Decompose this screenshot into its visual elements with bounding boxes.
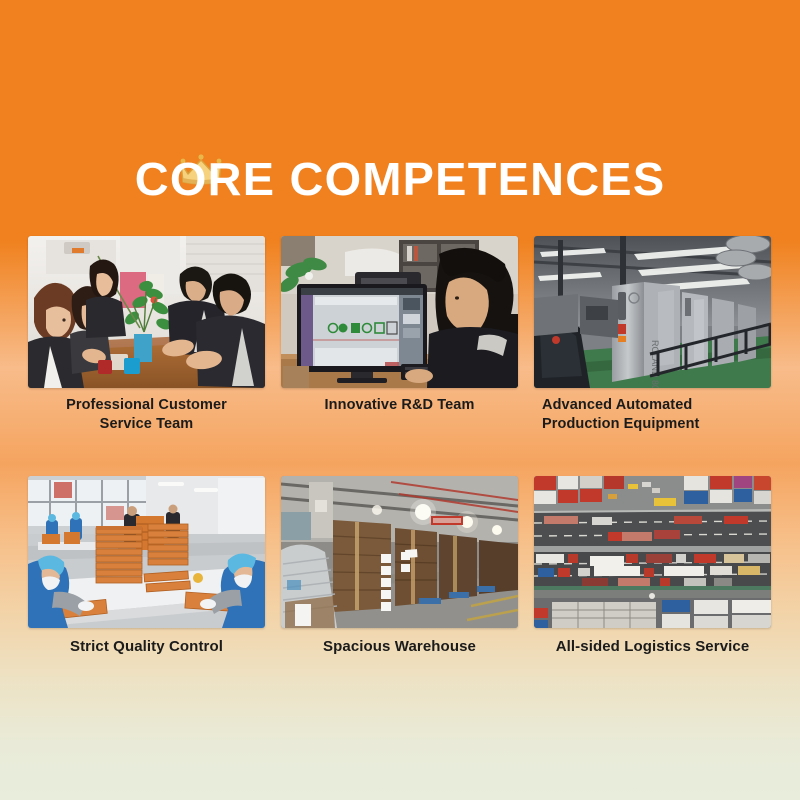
- photo-strict-quality-control: [28, 476, 265, 628]
- photo-advanced-automated-production-equipment: ROLAND 800: [534, 236, 771, 388]
- photo-spacious-warehouse: [281, 476, 518, 628]
- competence-row: Strict Quality Control: [28, 476, 772, 656]
- competence-card[interactable]: ROLAND 800: [534, 236, 771, 434]
- card-caption: Strict Quality Control: [28, 637, 265, 656]
- core-competences-banner: CORE COMPETENCES: [0, 0, 800, 800]
- competence-card[interactable]: Strict Quality Control: [28, 476, 265, 656]
- photo-professional-customer-service-team: [28, 236, 265, 388]
- competence-row: Professional Customer Service Team: [28, 236, 772, 434]
- card-caption: Spacious Warehouse: [281, 637, 518, 656]
- competence-card[interactable]: Spacious Warehouse: [281, 476, 518, 656]
- page-title: CORE COMPETENCES: [135, 150, 666, 208]
- competence-grid: Professional Customer Service Team: [28, 236, 772, 656]
- card-caption: All-sided Logistics Service: [534, 637, 771, 656]
- competence-card[interactable]: All-sided Logistics Service: [534, 476, 771, 656]
- photo-innovative-rd-team: [281, 236, 518, 388]
- page-title-block: CORE COMPETENCES: [0, 150, 800, 208]
- competence-card[interactable]: Professional Customer Service Team: [28, 236, 265, 434]
- card-caption: Advanced Automated Production Equipment: [534, 396, 771, 434]
- competence-card[interactable]: Innovative R&D Team: [281, 236, 518, 434]
- photo-all-sided-logistics-service: [534, 476, 771, 628]
- card-caption: Professional Customer Service Team: [28, 396, 265, 434]
- card-caption: Innovative R&D Team: [281, 396, 518, 415]
